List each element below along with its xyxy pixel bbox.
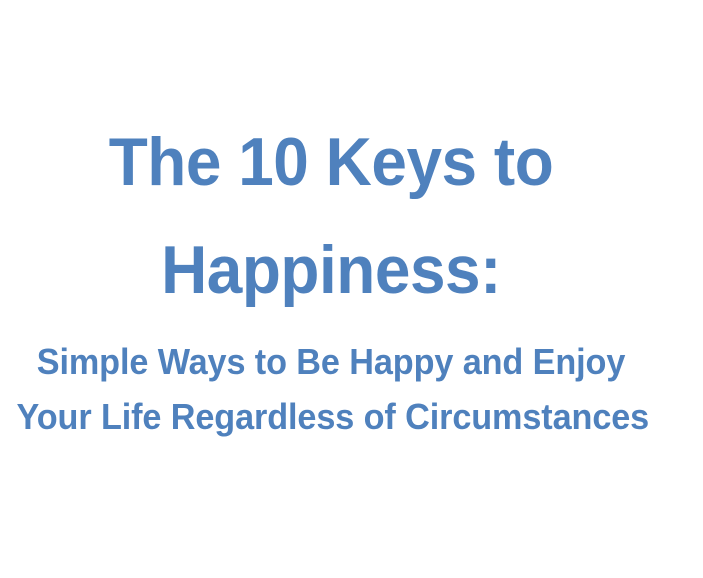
slide-canvas: The 10 Keys to Happiness: Simple Ways to… bbox=[0, 0, 703, 578]
slide-subtitle-line-2: Your Life Regardless of Circumstances bbox=[17, 389, 646, 444]
slide-title-line-1: The 10 Keys to bbox=[20, 108, 642, 216]
slide-title-line-2: Happiness: bbox=[20, 216, 642, 324]
slide-subtitle-line-1: Simple Ways to Be Happy and Enjoy bbox=[17, 334, 646, 389]
slide-content-block: The 10 Keys to Happiness: Simple Ways to… bbox=[0, 0, 662, 578]
slide-title: The 10 Keys to Happiness: bbox=[0, 108, 662, 324]
slide-subtitle: Simple Ways to Be Happy and Enjoy Your L… bbox=[0, 334, 662, 444]
